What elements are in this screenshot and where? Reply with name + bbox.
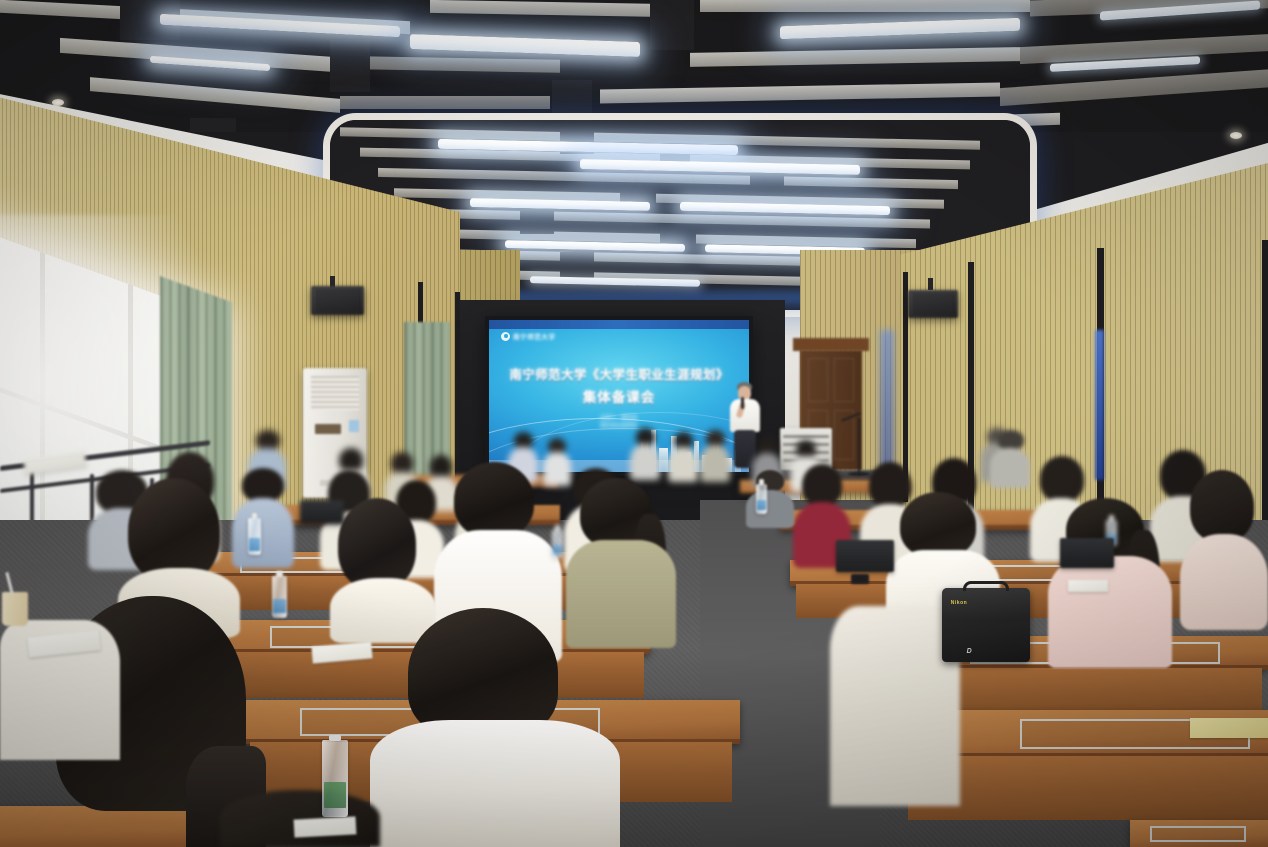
audience-member bbox=[232, 468, 294, 568]
water-bottle bbox=[248, 518, 261, 555]
desk-row-e-right-front bbox=[908, 756, 1268, 820]
wall-blue-reflection bbox=[880, 330, 894, 470]
audience-member-foreground bbox=[830, 606, 960, 806]
laptop bbox=[300, 500, 344, 524]
logo-emblem-icon bbox=[501, 332, 510, 341]
audience-member bbox=[990, 430, 1030, 488]
camera-bag-brand-text: Nikon bbox=[951, 600, 967, 606]
drink-cup bbox=[2, 592, 28, 626]
water-bottle bbox=[322, 740, 348, 817]
ceiling-downlight bbox=[52, 99, 64, 106]
water-bottle bbox=[756, 484, 767, 514]
laptop bbox=[1060, 538, 1114, 568]
presenter-head bbox=[738, 386, 751, 400]
audience-member bbox=[630, 428, 660, 480]
slide-title-line-2: 集体备课会 bbox=[489, 386, 749, 406]
wall-speaker-right bbox=[908, 290, 958, 318]
wall-blue-reflection bbox=[1095, 330, 1104, 480]
lecture-hall-photo: 南宁师范大学 南宁师范大学《大学生职业生涯规划》 集体备课会 主讲人：教务处 招… bbox=[0, 0, 1268, 847]
desk-row-f-front bbox=[1130, 820, 1268, 847]
handheld-microphone bbox=[741, 397, 744, 409]
paper-document bbox=[1190, 718, 1268, 738]
university-logo: 南宁师范大学 bbox=[501, 331, 556, 341]
slide-title-line-1: 南宁师范大学《大学生职业生涯规划》 bbox=[489, 364, 749, 383]
slide-topbar bbox=[489, 320, 749, 329]
camera-bag-logo-text: D bbox=[967, 648, 972, 655]
mobile-phone bbox=[851, 574, 869, 584]
wall-speaker-left bbox=[311, 286, 364, 315]
camera-bag: Nikon D bbox=[942, 588, 1030, 662]
door-frame-header bbox=[793, 338, 869, 351]
ceiling-downlight bbox=[1230, 132, 1242, 139]
water-bottle bbox=[552, 530, 563, 558]
laptop bbox=[836, 540, 894, 572]
logo-wordmark: 南宁师范大学 bbox=[513, 331, 556, 341]
paper-document bbox=[294, 816, 357, 837]
water-bottle bbox=[272, 576, 287, 618]
audience-member bbox=[1180, 470, 1268, 630]
audience-member bbox=[746, 470, 794, 528]
audience-member bbox=[700, 430, 730, 482]
window-railing-post bbox=[30, 470, 34, 524]
speaker-mount-right bbox=[928, 278, 933, 290]
paper-document bbox=[1068, 580, 1108, 592]
audience-member bbox=[668, 432, 698, 482]
camera-bag-handle bbox=[963, 581, 1009, 591]
